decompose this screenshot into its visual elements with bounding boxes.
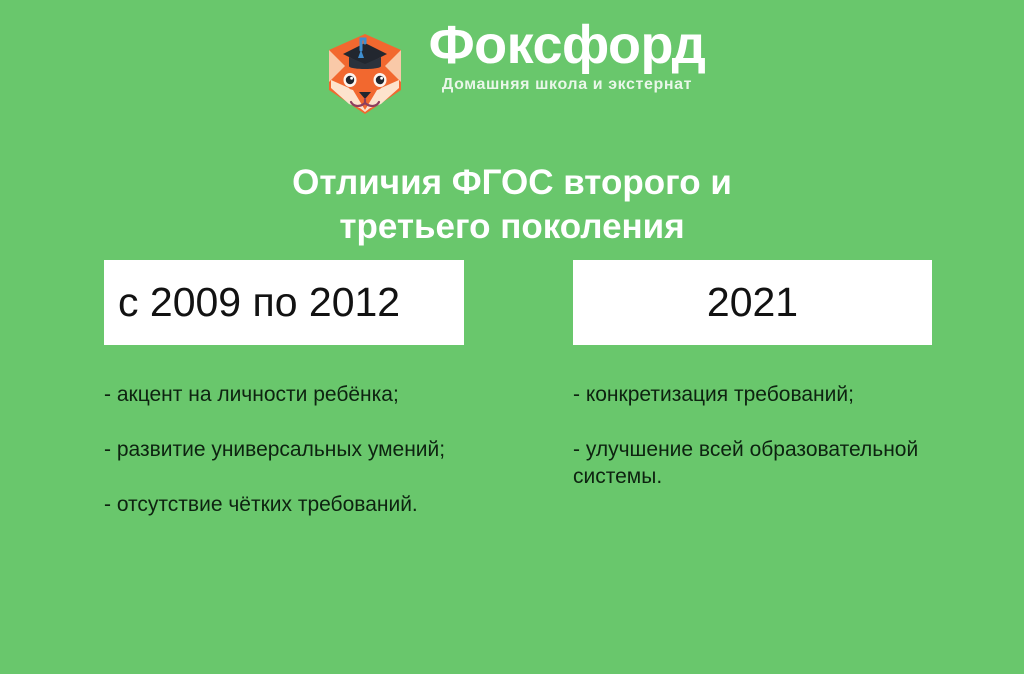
period-label-new: 2021 [707, 280, 798, 325]
list-item: - акцент на личности ребёнка; [104, 381, 464, 408]
comparison-columns: с 2009 по 2012 - акцент на личности ребё… [0, 260, 1024, 660]
column-old-standard: с 2009 по 2012 - акцент на личности ребё… [104, 260, 464, 518]
brand-name: Фоксфорд [429, 16, 706, 74]
points-list-new: - конкретизация требований; - улучшение … [573, 381, 932, 490]
column-new-standard: 2021 - конкретизация требований; - улучш… [573, 260, 932, 490]
page-title: Отличия ФГОС второго и третьего поколени… [0, 161, 1024, 249]
list-item: - конкретизация требований; [573, 381, 932, 408]
fox-graduate-icon [319, 20, 411, 116]
list-item: - развитие универсальных умений; [104, 436, 464, 463]
infographic-slide: Фоксфорд Домашняя школа и экстернат Отли… [0, 0, 1024, 674]
points-list-old: - акцент на личности ребёнка; - развитие… [104, 381, 464, 518]
list-item: - улучшение всей образовательной системы… [573, 436, 932, 490]
brand-logo-block: Фоксфорд Домашняя школа и экстернат [0, 16, 1024, 116]
period-label-old: с 2009 по 2012 [118, 280, 400, 325]
period-badge-new: 2021 [573, 260, 932, 345]
page-title-line-2: третьего поколения [120, 205, 904, 249]
list-item: - отсутствие чётких требований. [104, 491, 464, 518]
brand-text: Фоксфорд Домашняя школа и экстернат [429, 16, 706, 95]
brand-tagline: Домашняя школа и экстернат [442, 75, 692, 95]
page-title-line-1: Отличия ФГОС второго и [120, 161, 904, 205]
period-badge-old: с 2009 по 2012 [104, 260, 464, 345]
